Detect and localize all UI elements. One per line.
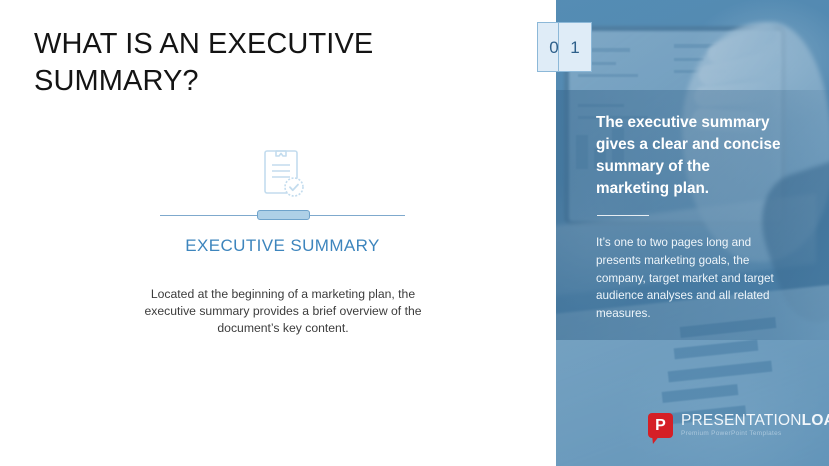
- logo-word-light: PRESENTATION: [681, 413, 802, 430]
- logo-word-bold: LOAD: [802, 413, 829, 430]
- logo-tagline: Premium PowerPoint Templates: [681, 431, 829, 437]
- panel-body-text: It’s one to two pages long and presents …: [596, 234, 792, 323]
- speech-bubble-icon: P: [648, 413, 673, 438]
- panel-divider: [597, 215, 649, 216]
- section-body-text: Located at the beginning of a marketing …: [128, 286, 438, 337]
- section-heading: EXECUTIVE SUMMARY: [160, 235, 405, 258]
- background-photo: [556, 0, 829, 466]
- left-panel: WHAT IS AN EXECUTIVE SUMMARY? EXECUTIVE …: [0, 0, 556, 466]
- clipboard-check-icon: [259, 145, 307, 201]
- slide-number-badge-second: 1: [558, 22, 592, 72]
- logo-wordmark: PRESENTATIONLOAD®: [681, 413, 829, 429]
- divider-accent: [257, 210, 310, 220]
- logo-text-group: PRESENTATIONLOAD® Premium PowerPoint Tem…: [681, 413, 829, 437]
- logo-mark-letter: P: [648, 413, 673, 438]
- section-divider: [160, 207, 405, 223]
- page-title: WHAT IS AN EXECUTIVE SUMMARY?: [34, 26, 454, 100]
- presentationload-logo[interactable]: P PRESENTATIONLOAD® Premium PowerPoint T…: [648, 413, 829, 438]
- panel-heading: The executive summary gives a clear and …: [596, 112, 786, 199]
- slide: WHAT IS AN EXECUTIVE SUMMARY? EXECUTIVE …: [0, 0, 829, 466]
- right-panel: [556, 0, 829, 466]
